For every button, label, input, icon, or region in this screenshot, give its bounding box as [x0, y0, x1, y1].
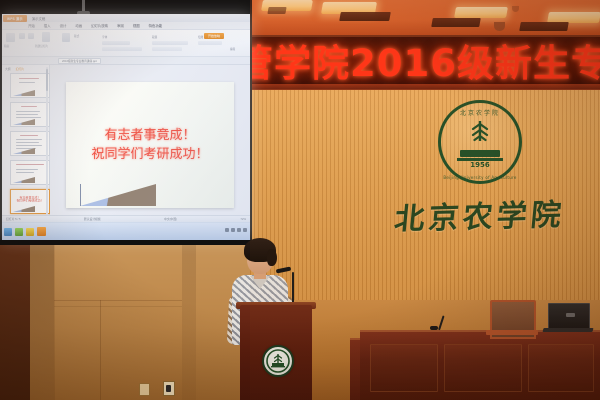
wps-status-bar: 幻灯片 5 / 5 默认设计模板 中文(中国) 72% — [2, 215, 250, 222]
screen-top-bar — [0, 0, 252, 14]
ceiling-vent — [431, 18, 481, 27]
podium-emblem-svg — [264, 347, 292, 375]
ribbon-group-paste: 粘贴 — [4, 44, 9, 48]
laptop-logo — [566, 313, 575, 317]
thumbnail-slide-1[interactable]: 1 — [10, 73, 50, 98]
wall-panel-seam — [54, 300, 182, 301]
copy-icon[interactable] — [28, 33, 34, 39]
browser-icon[interactable] — [4, 228, 12, 236]
menu-item-review[interactable]: 审阅 — [117, 23, 124, 28]
menu-item-insert[interactable]: 插入 — [44, 23, 51, 28]
ceiling-vent — [267, 7, 286, 14]
speaker-hair-side — [267, 249, 277, 266]
slide-line-1: 有志者事竟成！ — [104, 128, 195, 143]
menu-item-home[interactable]: 开始 — [28, 23, 35, 28]
slide-decoration-edge — [80, 184, 157, 206]
led-banner: 管学院2016级新生专业教 — [250, 35, 600, 92]
layout-icon[interactable] — [62, 33, 70, 42]
wps-title-bar: WPS 演示 演示文稿 — [2, 14, 250, 22]
wall-column — [30, 240, 54, 400]
wps-icon[interactable] — [37, 227, 46, 236]
system-tray[interactable] — [225, 228, 247, 232]
thumbnail-slide-4[interactable]: 4 — [10, 160, 50, 185]
emblem-year-text: 1956 — [470, 161, 489, 169]
wps-workspace: 大纲 幻灯片 1 2 — [2, 65, 250, 225]
menu-item-slideshow[interactable]: 幻灯片放映 — [91, 23, 108, 28]
ceiling-vent — [519, 22, 569, 31]
menu-item-features[interactable]: 特色功能 — [149, 23, 163, 28]
emblem-book-icon — [460, 150, 500, 157]
thumbnail-pane-tabs: 大纲 幻灯片 — [4, 67, 47, 71]
ceiling-vent — [339, 12, 391, 21]
thumbnail-slide-3[interactable]: 3 — [10, 131, 50, 156]
emblem-arc-bottom-text: Beijing University of Agriculture — [441, 175, 519, 180]
thumbnail-line-2: 祝同学们考研成功！ — [16, 199, 43, 203]
tray-icon[interactable] — [225, 228, 229, 232]
ceiling-light-panel — [454, 7, 508, 18]
new-slide-icon[interactable] — [42, 32, 50, 42]
wall-column — [182, 240, 196, 400]
university-emblem: 北京农学院 1956 Beijing University of Agricul… — [438, 100, 522, 184]
list-buttons[interactable] — [152, 47, 182, 51]
tab-outline[interactable]: 大纲 — [5, 67, 11, 71]
table-panel — [528, 344, 594, 392]
slide-editing-area: 有志者事竟成！ 祝同学们考研成功！ — [50, 65, 250, 225]
menu-item-animation[interactable]: 动画 — [75, 23, 82, 28]
podium-emblem-icon — [262, 345, 294, 377]
ribbon-group-font: 字体 — [102, 35, 107, 39]
table-panel — [370, 344, 438, 392]
ribbon-group-paragraph: 段落 — [152, 35, 157, 39]
wall-outlet — [139, 383, 150, 396]
tab-slides[interactable]: 幻灯片 — [16, 67, 24, 71]
podium-microphone-stem — [292, 272, 294, 306]
paste-icon[interactable] — [6, 33, 15, 42]
tray-icon[interactable] — [237, 228, 241, 232]
document-tab[interactable]: 2016级新生专业教育讲座.ppt — [58, 58, 101, 64]
side-wall-dark-edge — [0, 240, 30, 400]
wall-panel-seam — [54, 242, 55, 400]
ribbon-group-edit: 编辑 — [230, 47, 235, 51]
status-zoom-level[interactable]: 72% — [240, 217, 246, 221]
slide-line-2: 祝同学们考研成功！ — [91, 147, 208, 162]
wps-menu-bar: 开始 插入 设计 动画 幻灯片放映 审阅 视图 特色功能 — [2, 22, 250, 30]
thumbnail-scrollbar[interactable] — [46, 67, 48, 217]
shield-icon[interactable] — [26, 228, 34, 236]
lecture-hall-photo: 管学院2016级新生专业教 北京农学院 1956 Beijing Univers… — [0, 0, 600, 400]
ribbon-group-draw: 绘图 — [198, 35, 203, 39]
wps-logo: WPS 演示 — [3, 15, 27, 22]
ribbon-group-layout: 版式 — [74, 34, 79, 38]
paragraph-align-buttons[interactable] — [152, 41, 188, 45]
slide-thumbnail-pane: 大纲 幻灯片 1 2 — [2, 65, 50, 225]
laptop-keyboard — [542, 328, 593, 332]
stage-chair-seat — [486, 330, 538, 335]
menu-item-view[interactable]: 视图 — [133, 23, 140, 28]
current-slide[interactable]: 有志者事竟成！ 祝同学们考研成功！ — [66, 82, 234, 208]
projection-screen: WPS 演示 演示文稿 开始 插入 设计 动画 幻灯片放映 审阅 视图 特色功能 — [2, 14, 250, 240]
start-slideshow-button[interactable]: 开始放映 — [204, 33, 224, 39]
cut-icon[interactable] — [19, 33, 25, 39]
font-size-box[interactable] — [102, 41, 130, 45]
slide-text-block: 有志者事竟成！ 祝同学们考研成功！ — [66, 127, 234, 165]
led-banner-text: 管学院2016级新生专业教 — [250, 45, 600, 82]
emblem-wheat-icon — [466, 119, 494, 149]
thumbnail-slide-2[interactable]: 2 — [10, 102, 50, 127]
wps-ribbon: 粘贴 新建幻灯片 版式 字体 段落 绘图 编辑 开始放映 — [2, 30, 250, 57]
thumbnail-slide-5[interactable]: 5 有志者事竟成！ 祝同学们考研成功！ — [10, 189, 50, 214]
projection-screen-frame: WPS 演示 演示文稿 开始 插入 设计 动画 幻灯片放映 审阅 视图 特色功能 — [0, 0, 252, 245]
windows-taskbar — [2, 222, 250, 240]
wall-panel-seam — [100, 300, 101, 400]
status-language: 中文(中国) — [164, 217, 177, 221]
school-name-calligraphy: 北京农学院 — [393, 190, 568, 238]
laptop — [548, 303, 590, 331]
ribbon-group-new-slide: 新建幻灯片 — [35, 44, 48, 48]
shape-gallery[interactable] — [198, 41, 222, 45]
wps-document-tab[interactable]: 演示文稿 — [32, 16, 46, 21]
tray-icon[interactable] — [243, 228, 247, 232]
font-style-buttons[interactable] — [102, 47, 142, 51]
emblem-inner: 北京农学院 1956 Beijing University of Agricul… — [441, 103, 519, 181]
wps-document-tab-bar: 2016级新生专业教育讲座.ppt — [2, 57, 250, 65]
wall-switch — [163, 381, 175, 396]
status-template: 默认设计模板 — [84, 217, 101, 221]
table-microphone-head — [430, 326, 438, 330]
emblem-arc-top-text: 北京农学院 — [441, 108, 519, 117]
screen-bottom-bar — [0, 240, 252, 245]
wall-panel-seam — [54, 306, 182, 307]
thumbnail-slide-text: 有志者事竟成！ 祝同学们考研成功！ — [16, 196, 43, 204]
presidium-table — [360, 330, 600, 400]
tray-icon[interactable] — [231, 228, 235, 232]
ceiling-speaker-icon — [494, 22, 505, 31]
player-icon[interactable] — [15, 228, 23, 236]
menu-item-design[interactable]: 设计 — [60, 23, 67, 28]
status-slide-count: 幻灯片 5 / 5 — [6, 217, 21, 221]
table-panel — [444, 344, 522, 392]
wps-office-window: WPS 演示 演示文稿 开始 插入 设计 动画 幻灯片放映 审阅 视图 特色功能 — [2, 14, 250, 240]
